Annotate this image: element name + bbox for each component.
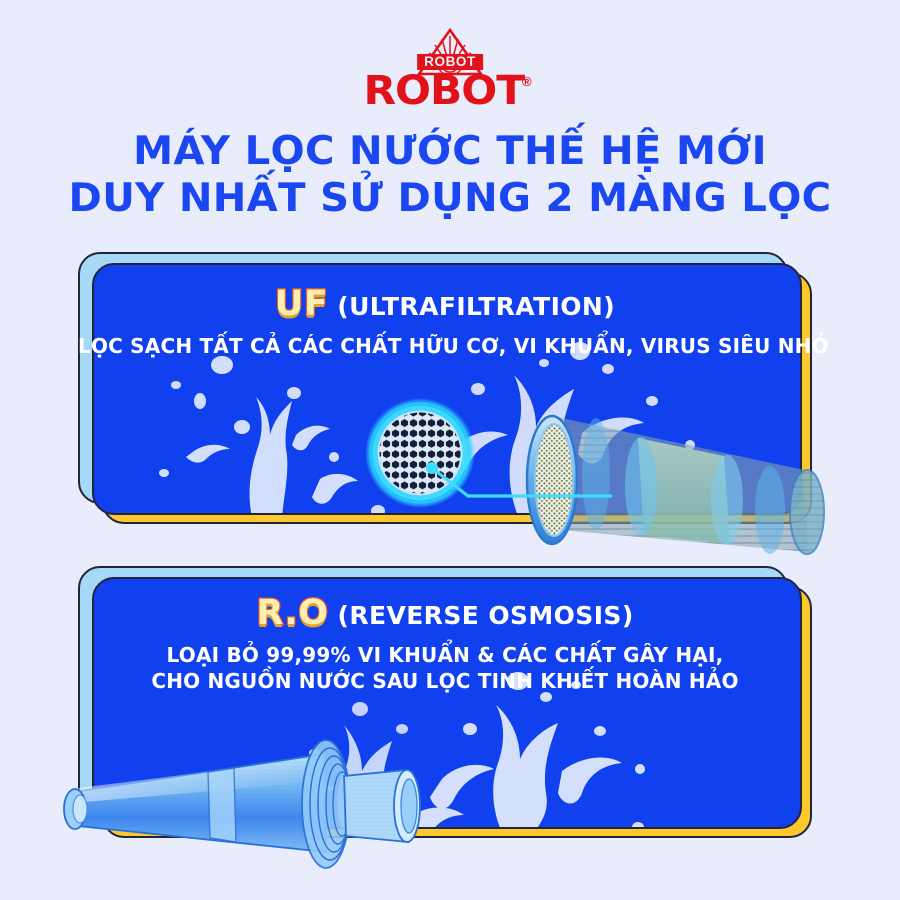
- uf-description: LỌC SẠCH TẤT CẢ CÁC CHẤT HỮU CƠ, VI KHUẨ…: [78, 333, 812, 359]
- poster-canvas: ROBOT ROBOT ® MÁY LỌC NƯỚC THẾ HỆ MỚI DU…: [0, 0, 900, 900]
- uf-card: UF (ULTRAFILTRATION) LỌC SẠCH TẤT CẢ CÁC…: [78, 252, 812, 524]
- ro-acronym: R.O: [256, 594, 328, 632]
- uf-acronym: UF: [275, 285, 328, 323]
- ro-description: LOẠI BỎ 99,99% VI KHUẨN & CÁC CHẤT GÂY H…: [78, 642, 812, 694]
- uf-description-line-1: LỌC SẠCH TẤT CẢ CÁC CHẤT HỮU CƠ, VI KHUẨ…: [78, 333, 812, 359]
- logo-wordmark-row: ROBOT ®: [368, 72, 531, 110]
- brand-logo: ROBOT ROBOT ®: [0, 28, 900, 110]
- ro-expanded-name: (REVERSE OSMOSIS): [338, 597, 634, 635]
- ro-description-line-1: LOẠI BỎ 99,99% VI KHUẨN & CÁC CHẤT GÂY H…: [78, 642, 812, 668]
- logo-wordmark-large: ROBOT: [364, 72, 525, 110]
- headline-line-2: DUY NHẤT SỬ DỤNG 2 MÀNG LỌC: [0, 175, 900, 222]
- uf-card-text: UF (ULTRAFILTRATION) LỌC SẠCH TẤT CẢ CÁC…: [78, 285, 812, 359]
- uf-title-row: UF (ULTRAFILTRATION): [78, 285, 812, 326]
- cyan-leader-line-icon: [424, 460, 614, 515]
- ro-title-row: R.O (REVERSE OSMOSIS): [78, 594, 812, 635]
- ro-card: R.O (REVERSE OSMOSIS) LOẠI BỎ 99,99% VI …: [78, 566, 812, 838]
- ro-card-text: R.O (REVERSE OSMOSIS) LOẠI BỎ 99,99% VI …: [78, 594, 812, 694]
- page-title: MÁY LỌC NƯỚC THẾ HỆ MỚI DUY NHẤT SỬ DỤNG…: [0, 128, 900, 222]
- ro-description-line-2: CHO NGUỒN NƯỚC SAU LỌC TINH KHIẾT HOÀN H…: [78, 668, 812, 694]
- headline-line-1: MÁY LỌC NƯỚC THẾ HỆ MỚI: [0, 128, 900, 175]
- uf-expanded-name: (ULTRAFILTRATION): [337, 288, 615, 326]
- ro-rolled-membrane-cylinder: [58, 726, 478, 886]
- logo-mark: ROBOT: [402, 28, 498, 71]
